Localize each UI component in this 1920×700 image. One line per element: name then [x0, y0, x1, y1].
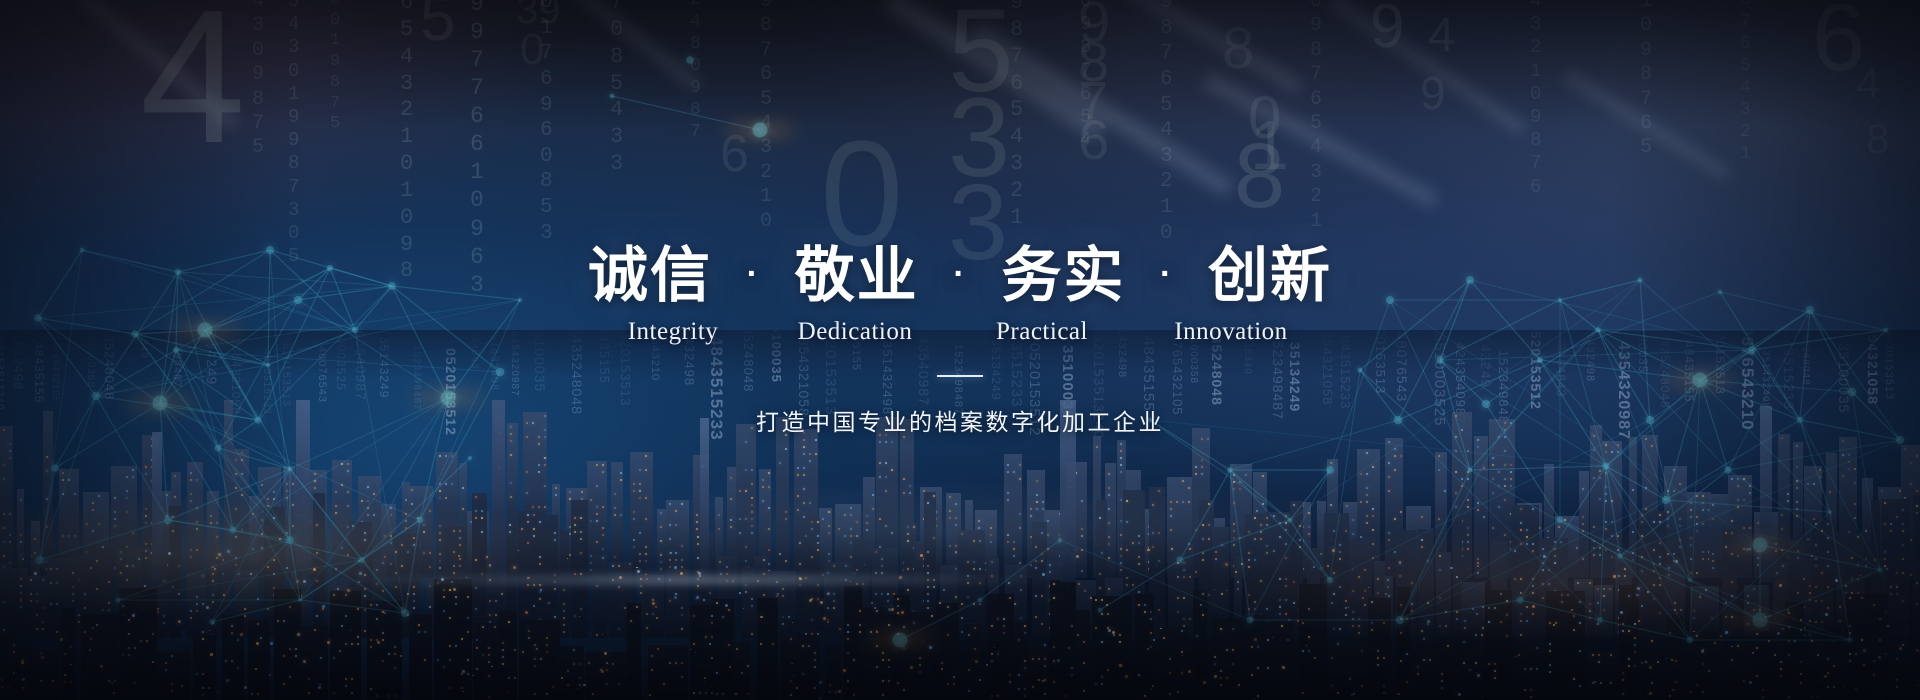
mesh-node-glow [1666, 376, 1734, 385]
mesh-node-glow [414, 394, 482, 403]
mesh-node [1617, 553, 1622, 558]
mesh-node [496, 368, 505, 377]
mesh-node [1436, 356, 1443, 363]
english-subtitle-row: Integrity Dedication Practical Innovatio… [0, 318, 1920, 346]
mesh-node [1227, 467, 1232, 472]
mesh-node [1748, 346, 1756, 354]
mesh-nodes [34, 56, 1904, 647]
headline-word-2: 敬业 [793, 242, 921, 309]
mesh-node [1896, 436, 1904, 444]
mesh-node [1557, 517, 1563, 523]
headline-separator-2: · [939, 255, 980, 293]
mesh-node [1662, 496, 1670, 504]
hero-banner: 453906053398768018949648 4 3 0 9 8 7 55 … [0, 0, 1920, 700]
mesh-node [173, 347, 179, 353]
mesh-node [164, 516, 172, 524]
mesh-node [1688, 578, 1692, 582]
tagline: 打造中国专业的档案数字化加工企业 [0, 403, 1920, 437]
mesh-node [1396, 616, 1405, 625]
mesh-node [1177, 557, 1184, 564]
mesh-node [1877, 567, 1882, 572]
mesh-node [1468, 468, 1473, 473]
mesh-node [1597, 617, 1603, 623]
headline-word-4: 创新 [1206, 242, 1334, 309]
mesh-node [1603, 463, 1610, 470]
mesh-node [1537, 357, 1543, 363]
mesh-node [209, 619, 215, 625]
mesh-node [1247, 617, 1254, 624]
mesh-node [1687, 637, 1693, 643]
mesh-node [1058, 538, 1063, 543]
english-label-innovation: Innovation [1131, 318, 1331, 346]
mesh-node [266, 363, 270, 367]
mesh-node [288, 467, 293, 472]
mesh-node [417, 517, 424, 524]
mesh-node [1517, 597, 1524, 604]
mesh-node [610, 94, 615, 99]
english-label-practical: Practical [953, 318, 1131, 346]
mesh-node [686, 56, 694, 64]
headline-word-1: 诚信 [586, 242, 714, 309]
network-mesh-icon [0, 0, 1920, 700]
mesh-node [92, 392, 100, 400]
english-label-dedication: Dedication [757, 318, 953, 346]
divider [937, 375, 983, 377]
headline-word-3: 务实 [999, 242, 1127, 309]
mesh-node [359, 557, 365, 563]
mesh-node [1326, 466, 1334, 474]
mesh-node [1806, 306, 1815, 315]
mesh-node [1327, 577, 1333, 583]
mesh-node [1828, 510, 1832, 514]
mesh-node [1724, 466, 1731, 473]
mesh-node [1098, 608, 1103, 613]
mesh-node [1847, 637, 1853, 643]
mesh-node [230, 527, 237, 534]
headline: 诚信 · 敬业 · 务实 · 创新 [0, 246, 1920, 306]
mesh-node [978, 598, 983, 603]
headline-separator-3: · [1146, 255, 1187, 293]
mesh-node [1358, 368, 1363, 373]
mesh-node [215, 445, 222, 452]
mesh-node [286, 536, 294, 544]
mesh-node-glow [866, 636, 934, 645]
mesh-node [51, 464, 59, 472]
mesh-node-glow [726, 126, 794, 135]
mesh-node [298, 598, 302, 602]
mesh-node [115, 597, 121, 603]
mesh-node-glow [1726, 616, 1794, 625]
mesh-node [1288, 518, 1293, 523]
headline-separator-1: · [733, 255, 774, 293]
mesh-node [401, 609, 409, 617]
mesh-node [468, 456, 472, 460]
mesh-node [1848, 388, 1856, 396]
mesh-node-glow [1726, 541, 1794, 550]
mesh-node [36, 556, 45, 565]
english-label-integrity: Integrity [589, 318, 757, 346]
